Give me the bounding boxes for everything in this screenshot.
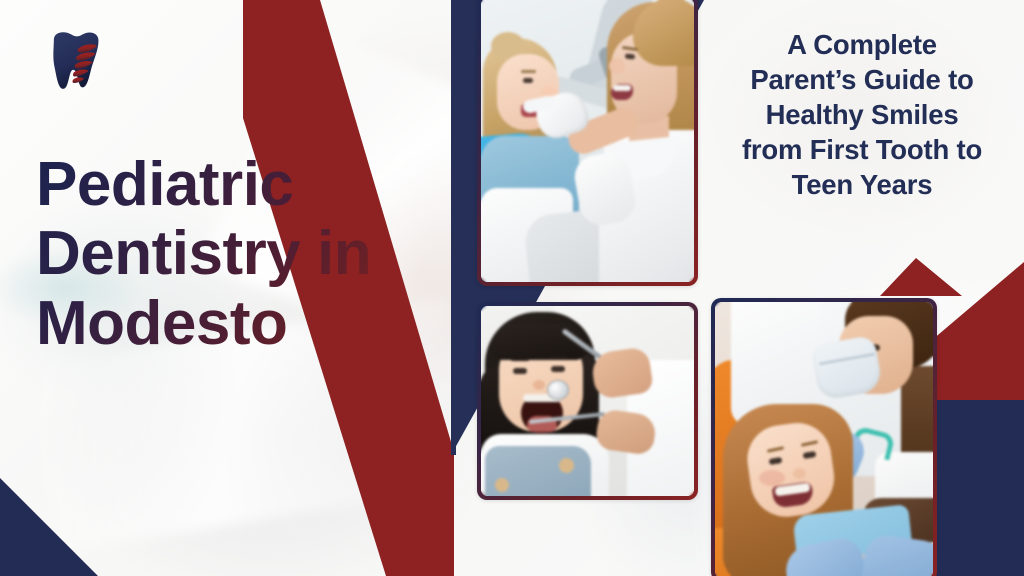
subtitle-line-1: A Complete (787, 29, 937, 60)
subtitle-line-2: Parent’s Guide to (750, 64, 973, 95)
marketing-banner: Pediatric Dentistry in Modesto A Complet… (0, 0, 1024, 576)
photo-child-dental-exam (477, 302, 698, 500)
photo-dentist-and-child (477, 0, 698, 286)
tooth-logo (38, 24, 110, 96)
subtitle: A Complete Parent’s Guide to Healthy Smi… (706, 28, 1018, 203)
headline-line-2: Dentistry in (36, 219, 371, 288)
photo-girl-orange-chair (711, 298, 937, 576)
headline-line-1: Pediatric (36, 150, 293, 219)
page-title: Pediatric Dentistry in Modesto (36, 150, 456, 358)
headline-line-3: Modesto (36, 289, 287, 358)
subtitle-line-4: from First Tooth to (742, 134, 982, 165)
subtitle-line-5: Teen Years (792, 169, 933, 200)
subtitle-line-3: Healthy Smiles (766, 99, 959, 130)
